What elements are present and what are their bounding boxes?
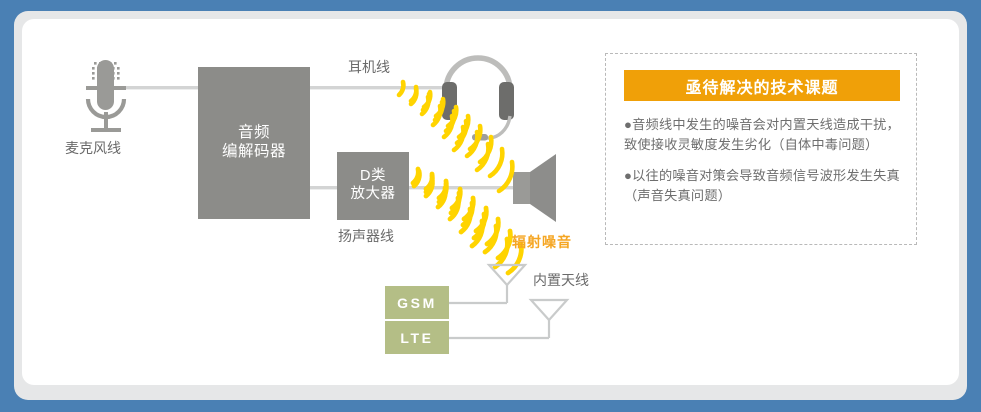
headphone-cable-label: 耳机线 [348, 57, 390, 77]
radio-block-lte: LTE [385, 321, 449, 354]
class-d-amplifier-block: D类 放大器 [337, 152, 409, 220]
radio-block-gsm: GSM [385, 286, 449, 319]
diagram-root: 麦克风线 音频 编解码器 耳机线 D类 放大器 扬声器线 辐射噪音 内置天线 G… [0, 0, 981, 412]
radio-block-lte-label: LTE [400, 330, 433, 346]
amplifier-line1: D类 [360, 168, 386, 186]
tech-challenges-body: ●音频线中发生的噪音会对内置天线造成干扰，致使接收灵敏度发生劣化（自体中毒问题）… [624, 115, 902, 206]
radio-block-gsm-label: GSM [397, 295, 437, 311]
microphone-label: 麦克风线 [65, 138, 121, 158]
tech-challenges-panel: 亟待解决的技术课题 ●音频线中发生的噪音会对内置天线造成干扰，致使接收灵敏度发生… [605, 53, 917, 245]
speaker-cable-label: 扬声器线 [338, 226, 394, 246]
internal-antenna-label: 内置天线 [533, 270, 589, 290]
amplifier-line2: 放大器 [351, 186, 396, 204]
tech-challenge-bullet-1: ●音频线中发生的噪音会对内置天线造成干扰，致使接收灵敏度发生劣化（自体中毒问题） [624, 115, 902, 155]
audio-codec-line1: 音频 [238, 124, 270, 143]
tech-challenges-header: 亟待解决的技术课题 [624, 70, 900, 101]
radiated-noise-label: 辐射噪音 [512, 232, 572, 252]
tech-challenge-bullet-2: ●以往的噪音对策会导致音频信号波形发生失真（声音失真问题） [624, 166, 902, 206]
audio-codec-block: 音频 编解码器 [198, 67, 310, 219]
audio-codec-line2: 编解码器 [222, 143, 286, 162]
